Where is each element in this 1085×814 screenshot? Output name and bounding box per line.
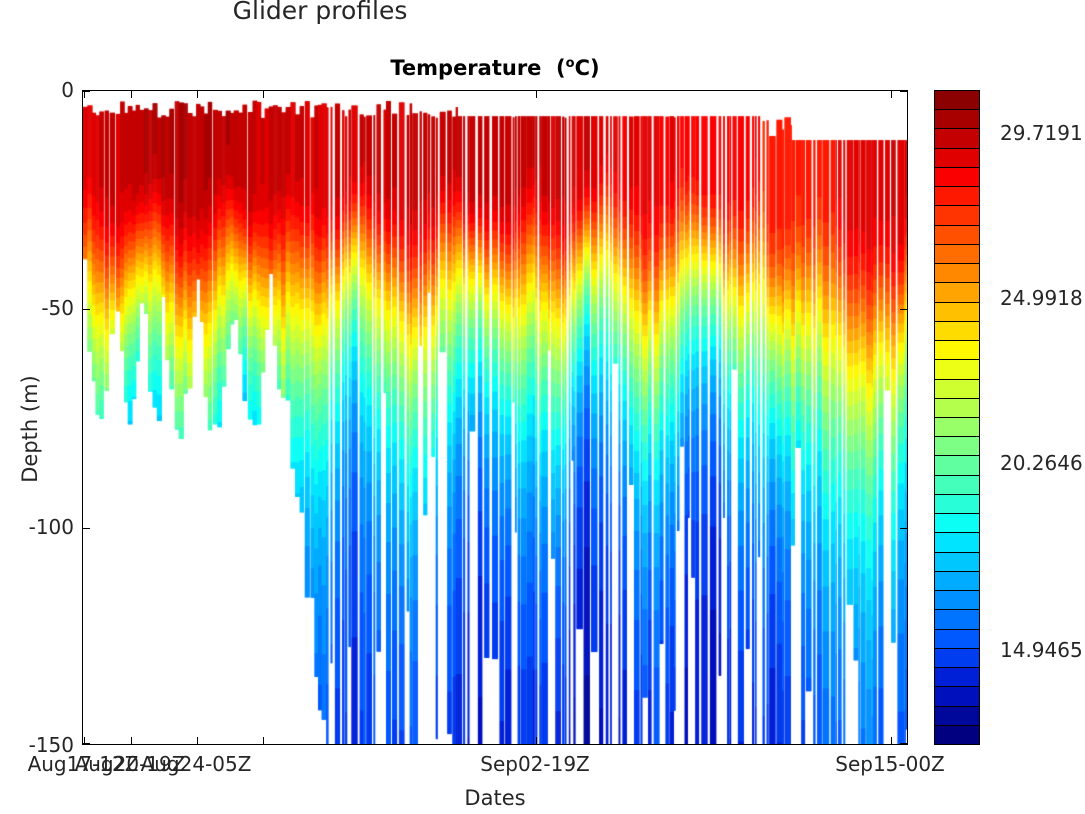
y-axis-label: Depth (m)	[18, 339, 42, 519]
x-axis-tick	[536, 91, 537, 98]
x-axis-tick	[131, 737, 132, 744]
x-axis-tick	[197, 91, 198, 98]
y-axis-tick	[83, 528, 90, 529]
figure-suptitle: Glider profiles	[0, 0, 640, 25]
colorbar-segment	[935, 226, 979, 245]
axes-title: Temperature (oC)	[82, 56, 908, 80]
y-axis-tick	[83, 743, 90, 744]
colorbar-segment	[935, 91, 979, 110]
y-axis-tick	[900, 528, 907, 529]
y-axis-tick	[900, 309, 907, 310]
colorbar-segment	[935, 206, 979, 225]
colorbar-segment	[935, 591, 979, 610]
x-axis-tick	[891, 91, 892, 98]
y-tick-label-3: -150	[0, 733, 74, 757]
colorbar-segment	[935, 495, 979, 514]
x-tick-label-3: Sep02-19Z	[480, 752, 590, 776]
colorbar-segment	[935, 380, 979, 399]
colorbar-segment	[935, 533, 979, 552]
colorbar-segment	[935, 149, 979, 168]
axes-title-main: Temperature (	[390, 56, 565, 80]
y-axis-tick	[83, 309, 90, 310]
colorbar-tick-label-3: 14.9465	[1000, 638, 1083, 662]
x-axis-tick	[891, 737, 892, 744]
colorbar-tick-label-2: 20.2646	[1000, 451, 1083, 475]
colorbar-segment	[935, 572, 979, 591]
colorbar-segment	[935, 283, 979, 302]
colorbar-segment	[935, 726, 979, 744]
colorbar-segment	[935, 668, 979, 687]
colorbar-segment	[935, 168, 979, 187]
colorbar-segment	[935, 707, 979, 726]
y-tick-label-0: 0	[0, 78, 74, 102]
colorbar-segment	[935, 303, 979, 322]
colorbar-segment	[935, 245, 979, 264]
colorbar-segment	[935, 399, 979, 418]
x-axis-label: Dates	[82, 786, 908, 810]
y-tick-label-2: -100	[0, 515, 74, 539]
x-tick-label-2: Aug24-05Z	[141, 752, 252, 776]
colorbar-segment	[935, 129, 979, 148]
x-axis-tick	[197, 737, 198, 744]
x-axis-tick	[131, 91, 132, 98]
colorbar-segment	[935, 341, 979, 360]
colorbar-tick-label-0: 29.7191	[1000, 121, 1083, 145]
colorbar-segment	[935, 610, 979, 629]
y-tick-label-1: -50	[0, 296, 74, 320]
x-axis-tick	[536, 737, 537, 744]
colorbar-segment	[935, 514, 979, 533]
x-axis-tick	[263, 91, 264, 98]
colorbar-segment	[935, 630, 979, 649]
colorbar-segment	[935, 322, 979, 341]
colorbar-segment	[935, 456, 979, 475]
colorbar-segment	[935, 687, 979, 706]
colorbar-segment	[935, 437, 979, 456]
colorbar-segment	[935, 264, 979, 283]
colorbar-segment	[935, 110, 979, 129]
colorbar-segment	[935, 360, 979, 379]
colorbar-segment	[935, 476, 979, 495]
colorbar-segment	[935, 418, 979, 437]
colorbar-segment	[935, 553, 979, 572]
y-axis-tick	[900, 91, 907, 92]
plot-area	[82, 90, 908, 745]
colorbar-segment	[935, 187, 979, 206]
axes-title-tail: C)	[575, 56, 600, 80]
x-tick-label-4: Sep15-00Z	[835, 752, 945, 776]
colorbar-segment	[935, 649, 979, 668]
colorbar	[934, 90, 980, 745]
x-axis-tick	[263, 737, 264, 744]
colorbar-tick-label-1: 24.9918	[1000, 286, 1083, 310]
x-axis-tick	[84, 91, 85, 98]
y-axis-tick	[900, 743, 907, 744]
y-axis-tick	[83, 91, 90, 92]
temperature-section-canvas	[83, 91, 907, 744]
degree-superscript: o	[566, 56, 575, 71]
